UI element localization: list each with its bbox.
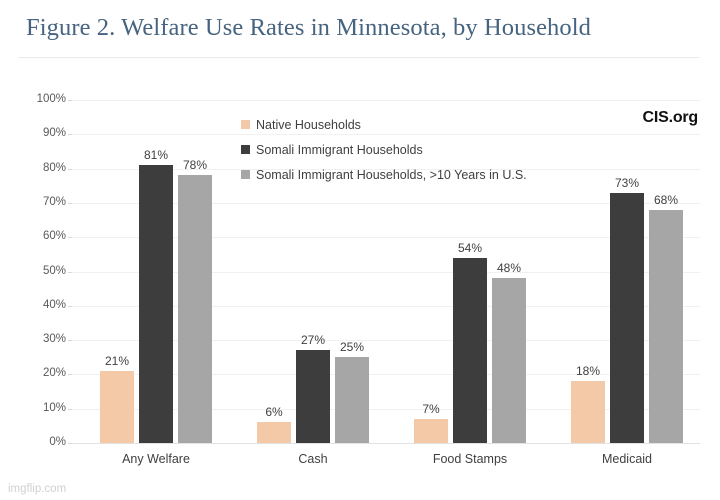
bar (100, 371, 134, 443)
y-tick-label: 80% (0, 162, 66, 174)
page-title: Figure 2. Welfare Use Rates in Minnesota… (26, 13, 591, 43)
bar (610, 193, 644, 443)
bar (335, 357, 369, 443)
bar-value-label: 21% (90, 354, 144, 368)
legend-item: Native Households (241, 112, 561, 137)
y-tick-label: 10% (0, 402, 66, 414)
chart-legend: Native HouseholdsSomali Immigrant Househ… (241, 112, 561, 187)
legend-label: Somali Immigrant Households, >10 Years i… (256, 168, 527, 182)
bar (571, 381, 605, 443)
source-watermark: CIS.org (643, 109, 699, 127)
bar (257, 422, 291, 443)
y-tick-label: 40% (0, 299, 66, 311)
y-tick-label: 20% (0, 367, 66, 379)
bar (649, 210, 683, 443)
bar-value-label: 48% (482, 261, 536, 275)
bar-value-label: 78% (168, 158, 222, 172)
y-tick-label: 100% (0, 93, 66, 105)
x-tick-label: Any Welfare (76, 452, 236, 466)
bar-value-label: 54% (443, 241, 497, 255)
bar-value-label: 68% (639, 193, 693, 207)
x-tick-label: Medicaid (547, 452, 707, 466)
bar-value-label: 7% (404, 402, 458, 416)
legend-swatch-icon (241, 120, 250, 129)
legend-label: Somali Immigrant Households (256, 143, 423, 157)
title-divider (18, 57, 700, 58)
imgflip-watermark: imgflip.com (8, 483, 66, 495)
bar (492, 278, 526, 443)
bar-value-label: 73% (600, 176, 654, 190)
bar (453, 258, 487, 443)
legend-swatch-icon (241, 145, 250, 154)
legend-item: Somali Immigrant Households (241, 137, 561, 162)
y-tick-label: 50% (0, 265, 66, 277)
figure-container: Figure 2. Welfare Use Rates in Minnesota… (0, 0, 720, 500)
y-tick-label: 30% (0, 333, 66, 345)
title-block: Figure 2. Welfare Use Rates in Minnesota… (0, 0, 720, 58)
bar-value-label: 6% (247, 405, 301, 419)
legend-item: Somali Immigrant Households, >10 Years i… (241, 162, 561, 187)
y-tick-label: 0% (0, 436, 66, 448)
gridline (72, 443, 700, 444)
y-tick-label: 60% (0, 230, 66, 242)
bar-value-label: 18% (561, 364, 615, 378)
bar (296, 350, 330, 443)
bar-group: 21%81%78% (72, 100, 229, 443)
bar-group: 18%73%68% (543, 100, 700, 443)
legend-label: Native Households (256, 118, 361, 132)
x-tick-label: Food Stamps (390, 452, 550, 466)
bar (139, 165, 173, 443)
bar (178, 175, 212, 443)
x-axis: Any WelfareCashFood StampsMedicaid (72, 452, 700, 472)
legend-swatch-icon (241, 170, 250, 179)
x-tick-label: Cash (233, 452, 393, 466)
bar-value-label: 25% (325, 340, 379, 354)
y-tick-label: 90% (0, 127, 66, 139)
bar (414, 419, 448, 443)
y-tick-label: 70% (0, 196, 66, 208)
